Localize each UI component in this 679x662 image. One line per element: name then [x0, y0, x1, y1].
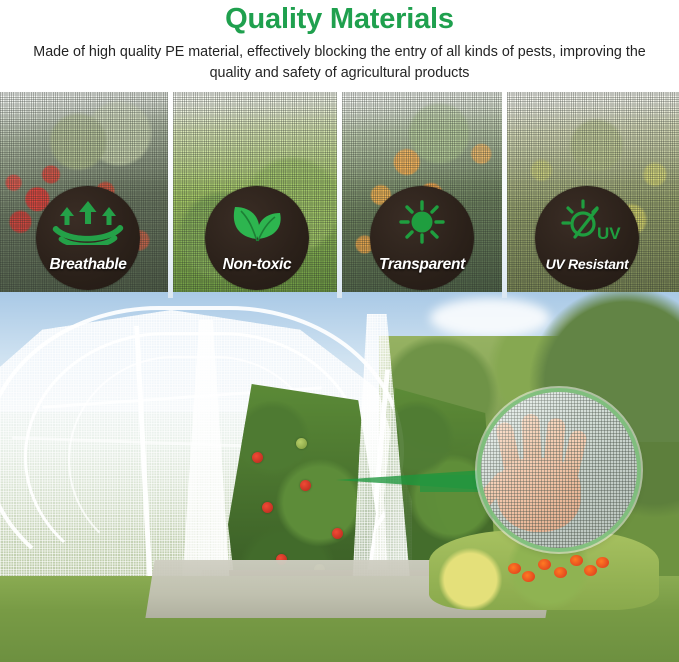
mesh-closeup-magnifier[interactable] — [481, 392, 637, 548]
flower — [508, 563, 521, 574]
badge-label: UV Resistant — [535, 256, 639, 273]
tomato-fruit-green — [296, 438, 307, 449]
flower — [538, 559, 551, 570]
flower — [554, 567, 567, 578]
badge-label: Non-toxic — [205, 256, 309, 273]
product-feature-image: Quality Materials Made of high quality P… — [0, 0, 679, 662]
flower — [522, 571, 535, 582]
sun-icon — [370, 199, 474, 245]
feature-badge-breathable[interactable]: Breathable — [36, 186, 140, 290]
uv-sun-blocked-icon: UV — [535, 199, 639, 245]
badge-label: Transparent — [370, 256, 474, 273]
leaves-icon — [205, 199, 309, 245]
page-title: Quality Materials — [0, 0, 679, 36]
flower — [584, 565, 597, 576]
tomato-fruit — [332, 528, 343, 539]
page-subtitle: Made of high quality PE material, effect… — [0, 36, 679, 84]
header: Quality Materials Made of high quality P… — [0, 0, 679, 92]
arrows-up-breathable-icon — [36, 199, 140, 245]
uv-icon-text: UV — [597, 224, 621, 243]
feature-badge-transparent[interactable]: Transparent — [370, 186, 474, 290]
tomato-fruit — [252, 452, 263, 463]
badge-label: Breathable — [36, 256, 140, 273]
tomato-fruit — [262, 502, 273, 513]
panel-divider — [168, 92, 173, 298]
feature-badge-uv-resistant[interactable]: UV UV Resistant — [535, 186, 639, 290]
flower — [596, 557, 609, 568]
flower — [570, 555, 583, 566]
panel-divider — [337, 92, 342, 298]
tomato-fruit — [300, 480, 311, 491]
feature-badge-nontoxic[interactable]: Non-toxic — [205, 186, 309, 290]
panel-divider — [502, 92, 507, 298]
lens-sheen — [481, 392, 637, 548]
